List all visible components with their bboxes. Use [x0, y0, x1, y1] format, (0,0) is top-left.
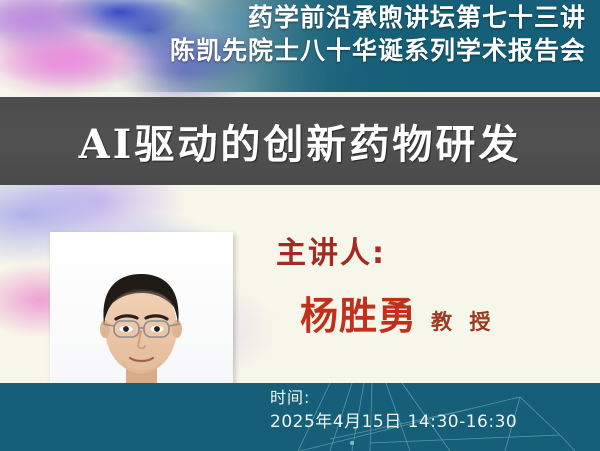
header-line-2: 陈凯先院士八十华诞系列学术报告会: [170, 36, 586, 66]
header-band: 药学前沿承煦讲坛第七十三讲 陈凯先院士八十华诞系列学术报告会: [0, 0, 600, 92]
header-line-1: 药学前沿承煦讲坛第七十三讲: [170, 3, 586, 33]
speaker-label: 主讲人:: [276, 228, 386, 272]
speaker-academic-title: 教 授: [431, 306, 495, 336]
title-band: AI驱动的创新药物研发: [0, 97, 600, 185]
speaker-row: 杨胜勇 教 授: [300, 285, 495, 340]
header-text-group: 药学前沿承煦讲坛第七十三讲 陈凯先院士八十华诞系列学术报告会: [170, 3, 586, 65]
time-text-group: 时间: 2025年4月15日 14:30-16:30: [270, 388, 517, 433]
time-band: 时间: 2025年4月15日 14:30-16:30: [0, 383, 600, 451]
time-value: 2025年4月15日 14:30-16:30: [270, 412, 517, 433]
time-label: 时间:: [270, 388, 517, 408]
speaker-name: 杨胜勇: [300, 285, 417, 340]
seminar-poster: 药学前沿承煦讲坛第七十三讲 陈凯先院士八十华诞系列学术报告会 AI驱动的创新药物…: [0, 0, 600, 451]
page-title: AI驱动的创新药物研发: [79, 112, 522, 170]
